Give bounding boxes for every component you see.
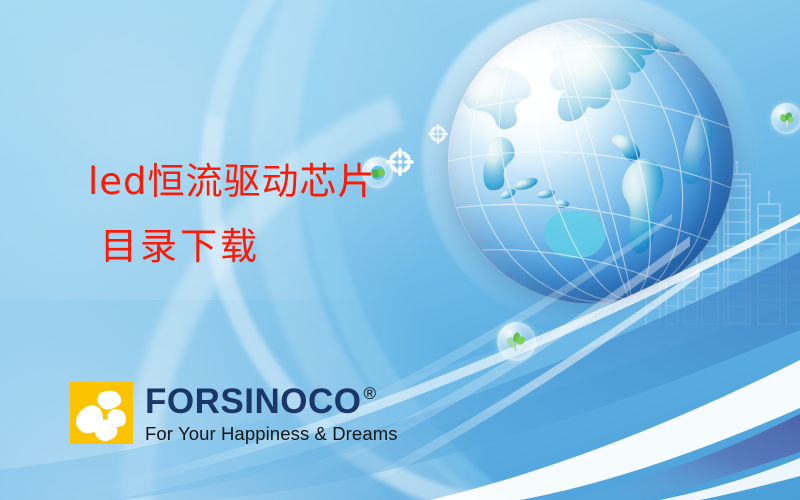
bubble-sprout bbox=[497, 322, 536, 361]
headline-line-2: 目录下载 bbox=[100, 228, 376, 265]
tree-icon bbox=[777, 109, 797, 129]
pinwheel-petals-icon bbox=[70, 382, 133, 444]
bubble-tree-content bbox=[777, 109, 797, 129]
headline-line-1: led恒流驱动芯片 bbox=[88, 163, 376, 200]
flower-sparkle-small-icon bbox=[428, 124, 448, 144]
registered-trademark-symbol: ® bbox=[363, 385, 376, 402]
logo-text-block: FORSINOCO ® For Your Happiness & Dreams bbox=[145, 382, 398, 445]
headline: led恒流驱动芯片 目录下载 bbox=[88, 163, 376, 265]
company-logo: FORSINOCO ® For Your Happiness & Dreams bbox=[70, 382, 398, 445]
bubble-tree bbox=[771, 103, 800, 134]
forsinoco-pinwheel-mark-icon bbox=[70, 382, 133, 444]
bubble-sprout-content bbox=[504, 329, 529, 354]
logo-company-name: FORSINOCO bbox=[145, 384, 361, 419]
leaf-sprout-icon bbox=[504, 329, 529, 354]
marketing-banner: led恒流驱动芯片 目录下载 FORSINOCO ® bbox=[0, 0, 800, 500]
logo-wordmark: FORSINOCO ® bbox=[145, 384, 398, 419]
logo-tagline: For Your Happiness & Dreams bbox=[145, 423, 398, 445]
